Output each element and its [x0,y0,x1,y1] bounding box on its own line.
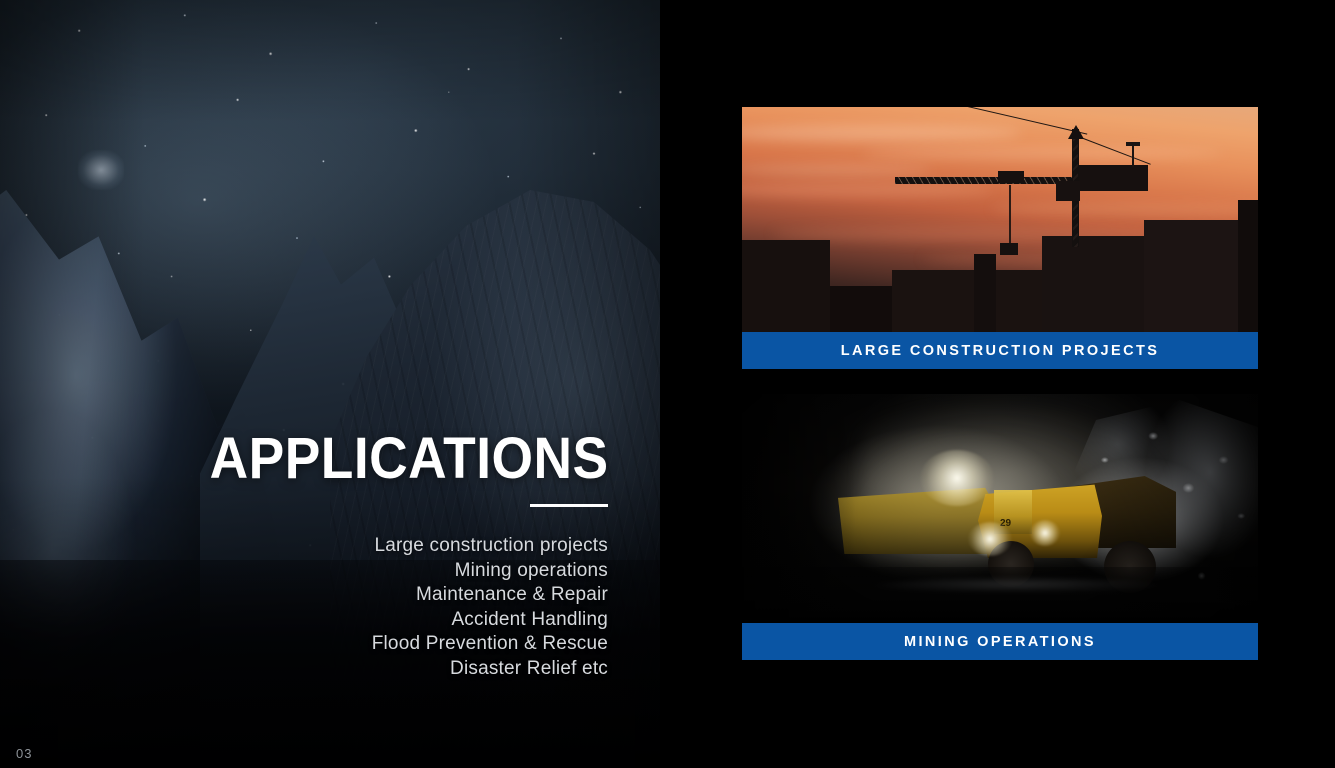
card-mining-operations: 29 MINING OPERATIONS [742,394,1258,660]
card-large-construction-projects: LARGE CONSTRUCTION PROJECTS [742,107,1258,369]
page-title: APPLICATIONS [209,428,608,490]
list-item: Large construction projects [188,534,608,559]
title-divider-rule [530,504,608,507]
building-silhouette [830,286,892,332]
applications-list: Large construction projects Mining opera… [188,534,608,681]
left-hero-panel: APPLICATIONS Large construction projects… [0,0,660,768]
crane-trolley [998,171,1024,183]
crane-counterweight [1078,165,1148,191]
list-item: Maintenance & Repair [188,583,608,608]
caption-bar-construction: LARGE CONSTRUCTION PROJECTS [742,332,1258,369]
headlight-beam [968,522,1012,556]
list-item: Flood Prevention & Rescue [188,632,608,657]
list-item: Accident Handling [188,608,608,633]
presentation-slide: APPLICATIONS Large construction projects… [0,0,1335,768]
building-silhouette [1238,200,1258,332]
building-silhouette [892,270,1044,332]
caption-bar-mining: MINING OPERATIONS [742,623,1258,660]
list-item: Disaster Relief etc [188,657,608,682]
city-skyline-silhouette [742,212,1258,332]
left-text-block: APPLICATIONS Large construction projects… [0,0,660,768]
building-silhouette [742,240,830,332]
crane-operator-cab [1056,181,1080,201]
caption-label: MINING OPERATIONS [904,634,1096,650]
construction-photo [742,107,1258,332]
caption-label: LARGE CONSTRUCTION PROJECTS [841,343,1160,359]
page-number: 03 [16,746,32,761]
crane-hook [1000,243,1018,255]
mining-photo: 29 [742,394,1258,623]
headlight-beam [920,450,994,506]
mine-ground [742,567,1258,623]
crane-hook-line [1009,185,1011,247]
headlight-beam [1030,520,1060,546]
right-content-panel: LARGE CONSTRUCTION PROJECTS 29 [660,0,1335,768]
list-item: Mining operations [188,559,608,584]
building-silhouette [974,254,996,332]
rooftop-antenna [1132,145,1134,167]
